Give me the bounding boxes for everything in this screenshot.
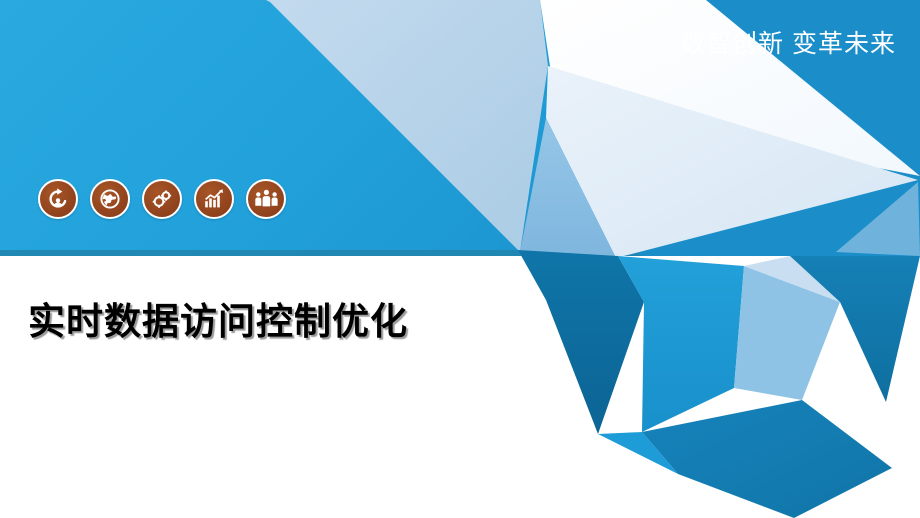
refresh-cycle-icon [38,179,78,219]
title-slide: 数智创新 变革未来 [0,0,920,518]
page-title: 实时数据访问控制优化 [28,299,408,345]
facet-top-light [266,0,548,252]
tagline: 数智创新 变革未来 [680,27,896,61]
facet-tail [642,400,892,518]
bar-chart-icon [194,179,234,219]
facet-dark-center [518,250,644,434]
facet-blue-center [618,256,744,432]
low-poly-crystal-graphic [0,0,920,518]
globe-icon [90,179,130,219]
gears-icon [142,179,182,219]
icon-row [38,179,286,219]
people-group-icon [246,179,286,219]
